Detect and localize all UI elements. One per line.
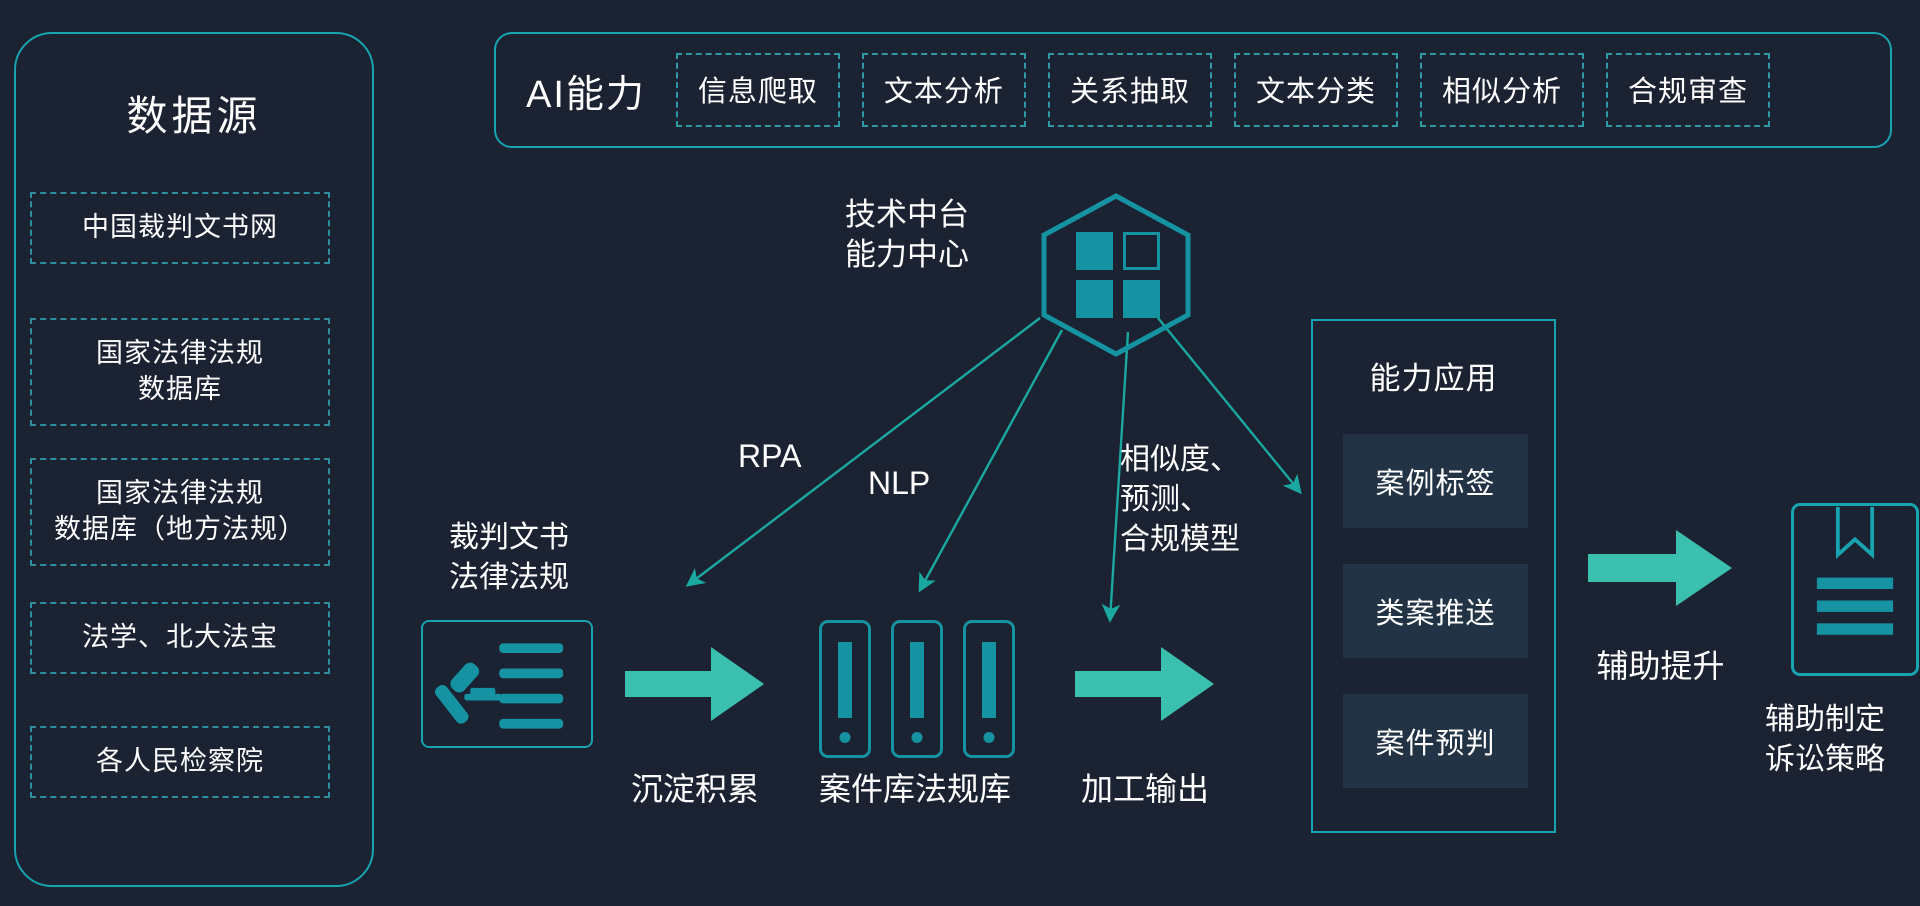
output-arrow-caption: 辅助提升 xyxy=(1588,645,1733,688)
tech-hub-label-line2: 能力中心 xyxy=(845,235,969,275)
output-arrow xyxy=(1588,528,1733,608)
ability-application-panel: 能力应用 案例标签 类案推送 案件预判 xyxy=(1311,319,1556,833)
edge-label-model-line1: 相似度、 xyxy=(1120,440,1240,480)
tech-hub-label: 技术中台 能力中心 xyxy=(845,195,969,276)
arrow-1-caption: 沉淀积累 xyxy=(625,768,765,811)
app-card-similar-case-push[interactable]: 类案推送 xyxy=(1343,564,1528,658)
edge-label-model: 相似度、 预测、 合规模型 xyxy=(1120,440,1240,560)
bookmark-document-box[interactable] xyxy=(1791,503,1919,676)
server-rack-icon[interactable] xyxy=(891,620,943,758)
server-bar xyxy=(838,642,852,718)
app-card-label: 案例标签 xyxy=(1375,460,1495,502)
app-card-label: 类案推送 xyxy=(1375,590,1495,632)
app-card-case-prediction[interactable]: 案件预判 xyxy=(1343,694,1528,788)
judgment-documents-title-line1: 裁判文书 xyxy=(425,518,593,558)
server-indicator-dot xyxy=(984,732,995,743)
hub-tile-bottom-left xyxy=(1076,280,1113,318)
edge-label-nlp: NLP xyxy=(868,465,930,502)
diagram-canvas: 数据源 中国裁判文书网 国家法律法规 数据库 国家法律法规 数据库（地方法规） … xyxy=(0,0,1920,906)
edge-label-rpa: RPA xyxy=(738,438,801,475)
arrow-2-caption: 加工输出 xyxy=(1075,768,1215,811)
edge-nlp xyxy=(920,330,1062,590)
app-card-label: 案件预判 xyxy=(1375,720,1495,762)
gavel-document-icon xyxy=(423,622,591,746)
server-bar xyxy=(910,642,924,718)
hub-tile-top-left xyxy=(1076,232,1113,270)
tech-hub-label-line1: 技术中台 xyxy=(845,195,969,235)
pipeline-arrow-1 xyxy=(625,645,765,723)
server-indicator-dot xyxy=(840,732,851,743)
server-indicator-dot xyxy=(912,732,923,743)
judgment-documents-title: 裁判文书 法律法规 xyxy=(425,518,593,598)
pipeline-arrow-2 xyxy=(1075,645,1215,723)
output-caption-line1: 辅助制定 xyxy=(1735,700,1915,740)
app-card-case-tag[interactable]: 案例标签 xyxy=(1343,434,1528,528)
output-caption: 辅助制定 诉讼策略 xyxy=(1735,700,1915,780)
server-rack-icon[interactable] xyxy=(963,620,1015,758)
server-rack-icon[interactable] xyxy=(819,620,871,758)
hexagon-four-tiles-icon xyxy=(1076,232,1160,318)
output-caption-line2: 诉讼策略 xyxy=(1735,740,1915,780)
judgment-documents-title-line2: 法律法规 xyxy=(425,558,593,598)
case-law-database-caption: 案件库法规库 xyxy=(790,768,1040,811)
hub-tile-top-right xyxy=(1123,232,1160,270)
bookmark-document-icon xyxy=(1794,506,1916,673)
edge-label-model-line3: 合规模型 xyxy=(1120,520,1240,560)
server-bar xyxy=(982,642,996,718)
edge-label-model-line2: 预测、 xyxy=(1120,480,1240,520)
hub-tile-bottom-right xyxy=(1123,280,1160,318)
ability-application-title: 能力应用 xyxy=(1313,353,1554,398)
judgment-documents-box[interactable] xyxy=(421,620,593,748)
